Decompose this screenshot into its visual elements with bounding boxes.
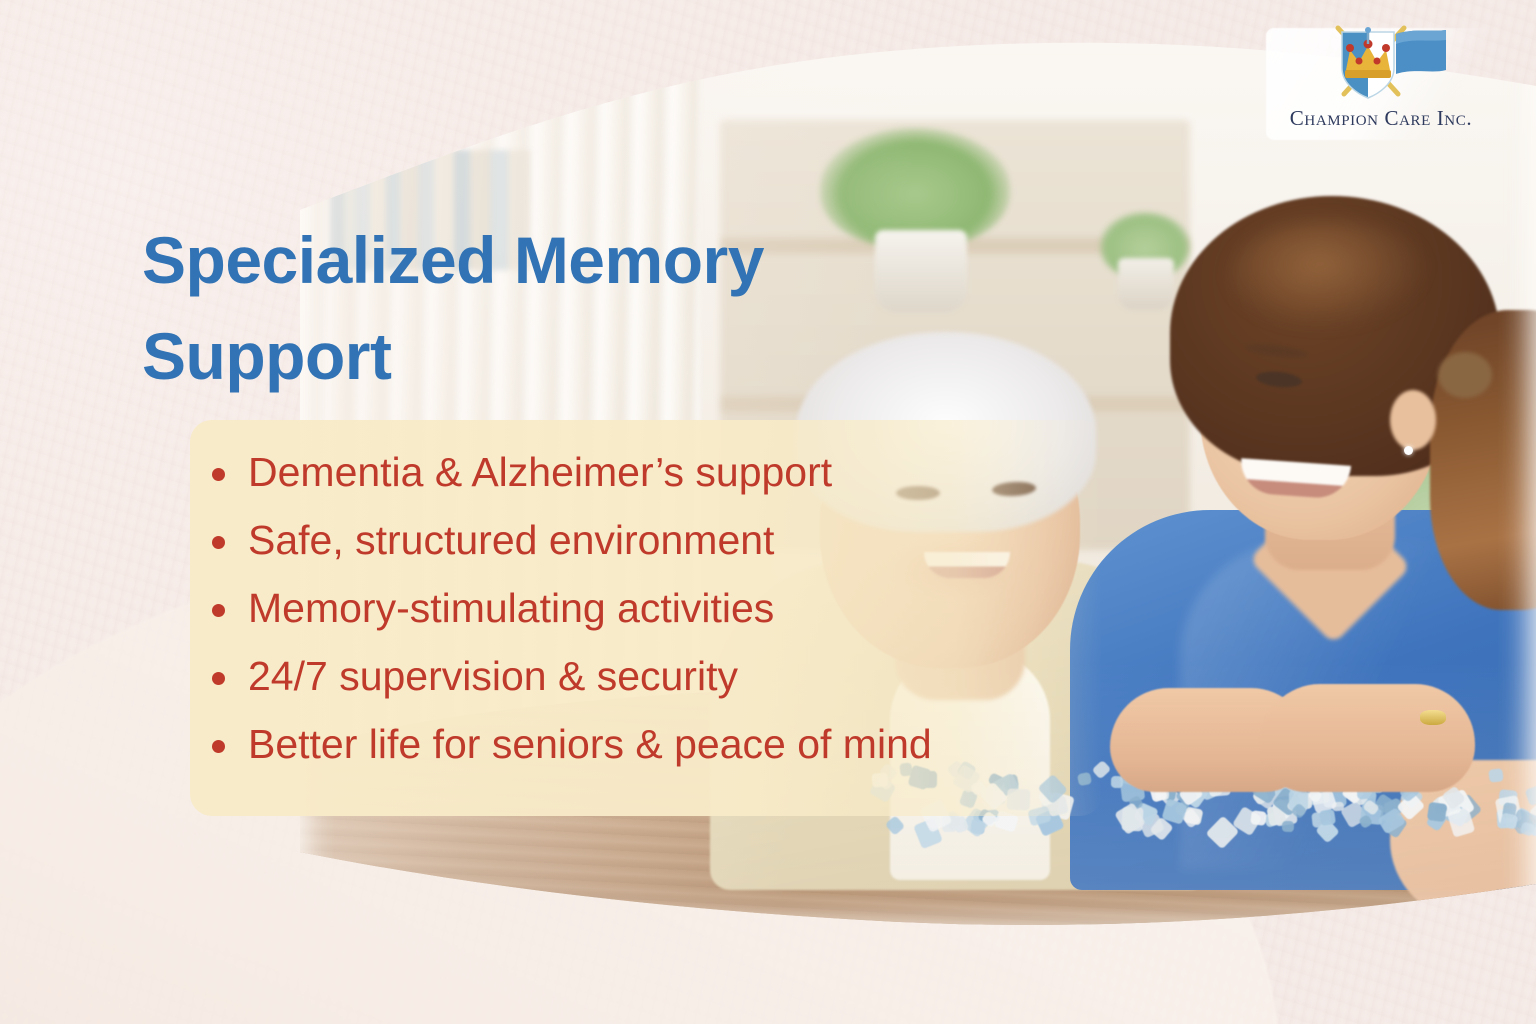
list-item: Better life for seniors & peace of mind bbox=[190, 710, 1190, 778]
page-title-line2: Support bbox=[142, 308, 922, 404]
bullet-dot-icon bbox=[212, 740, 225, 753]
promo-slide: Champion Care Inc. Specialized Memory Su… bbox=[0, 0, 1536, 1024]
bullet-dot-icon bbox=[212, 536, 225, 549]
list-item-label: 24/7 supervision & security bbox=[248, 653, 738, 699]
list-item-label: Safe, structured environment bbox=[248, 517, 774, 563]
list-item: 24/7 supervision & security bbox=[190, 642, 1190, 710]
list-item-label: Better life for seniors & peace of mind bbox=[248, 721, 932, 767]
list-item: Memory-stimulating activities bbox=[190, 574, 1190, 642]
brand-logo[interactable]: Champion Care Inc. bbox=[1266, 22, 1496, 142]
page-title: Specialized Memory Support bbox=[142, 212, 922, 404]
list-item-label: Dementia & Alzheimer’s support bbox=[248, 449, 832, 495]
shield-crown-emblem-icon bbox=[1318, 22, 1448, 104]
bullet-dot-icon bbox=[212, 604, 225, 617]
bullet-dot-icon bbox=[212, 672, 225, 685]
list-item: Safe, structured environment bbox=[190, 506, 1190, 574]
feature-list: Dementia & Alzheimer’s supportSafe, stru… bbox=[190, 438, 1190, 778]
list-item: Dementia & Alzheimer’s support bbox=[190, 438, 1190, 506]
page-title-line1: Specialized Memory bbox=[142, 223, 764, 297]
list-item-label: Memory-stimulating activities bbox=[248, 585, 774, 631]
logo-wordmark: Champion Care Inc. bbox=[1266, 106, 1496, 131]
bullet-dot-icon bbox=[212, 468, 225, 481]
